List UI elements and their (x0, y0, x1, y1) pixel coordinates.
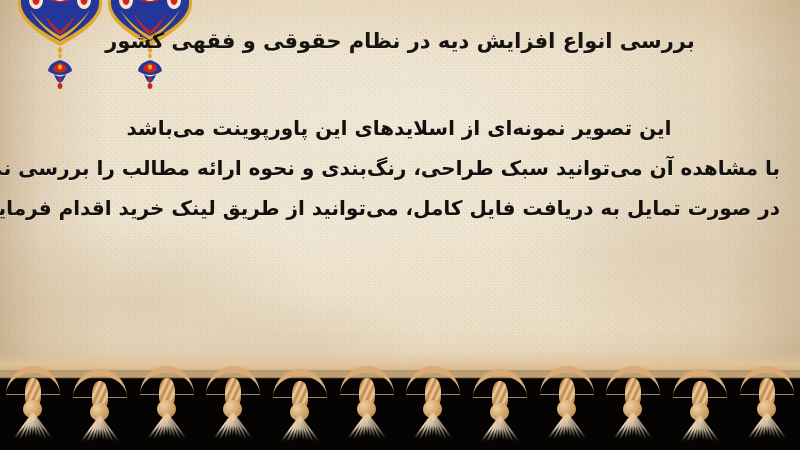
carpet-fringe-tassel (273, 361, 327, 450)
fringe-brush (685, 416, 715, 450)
fringe-brush (285, 416, 315, 450)
fringe-brush (485, 416, 515, 450)
body-line-3: در صورت تمایل به دریافت فایل کامل، می‌تو… (18, 188, 780, 228)
fringe-brush (352, 413, 382, 447)
fringe-brush (618, 413, 648, 447)
fringe-brush (85, 416, 115, 450)
carpet-fringe-tassel (206, 358, 260, 450)
slide-title: بررسی انواع افزایش دیه در نظام حقوقی و ف… (20, 26, 780, 58)
carpet-fringe-tassel (606, 358, 660, 450)
carpet-fringe (0, 352, 800, 450)
fringe-brush (218, 413, 248, 447)
fringe-brush (152, 413, 182, 447)
carpet-fringe-tassel (740, 358, 794, 450)
body-line-1: این تصویر نمونه‌ای از اسلایدهای این پاور… (18, 108, 780, 148)
presentation-slide: بررسی انواع افزایش دیه در نظام حقوقی و ف… (0, 0, 800, 450)
carpet-fringe-tassel (73, 361, 127, 450)
carpet-fringe-tassel (540, 358, 594, 450)
carpet-fringe-tassel (406, 358, 460, 450)
fringe-brush (418, 413, 448, 447)
carpet-fringe-tassel (140, 358, 194, 450)
fringe-brush (552, 413, 582, 447)
body-line-2: با مشاهده آن می‌توانید سبک طراحی، رنگ‌بن… (18, 148, 780, 188)
carpet-fringe-tassel (340, 358, 394, 450)
carpet-fringe-tassel (6, 358, 60, 450)
carpet-fringe-tassel (673, 361, 727, 450)
slide-body: این تصویر نمونه‌ای از اسلایدهای این پاور… (18, 108, 780, 228)
carpet-fringe-tassel (473, 361, 527, 450)
fringe-brush (752, 413, 782, 447)
fringe-brush (18, 413, 48, 447)
